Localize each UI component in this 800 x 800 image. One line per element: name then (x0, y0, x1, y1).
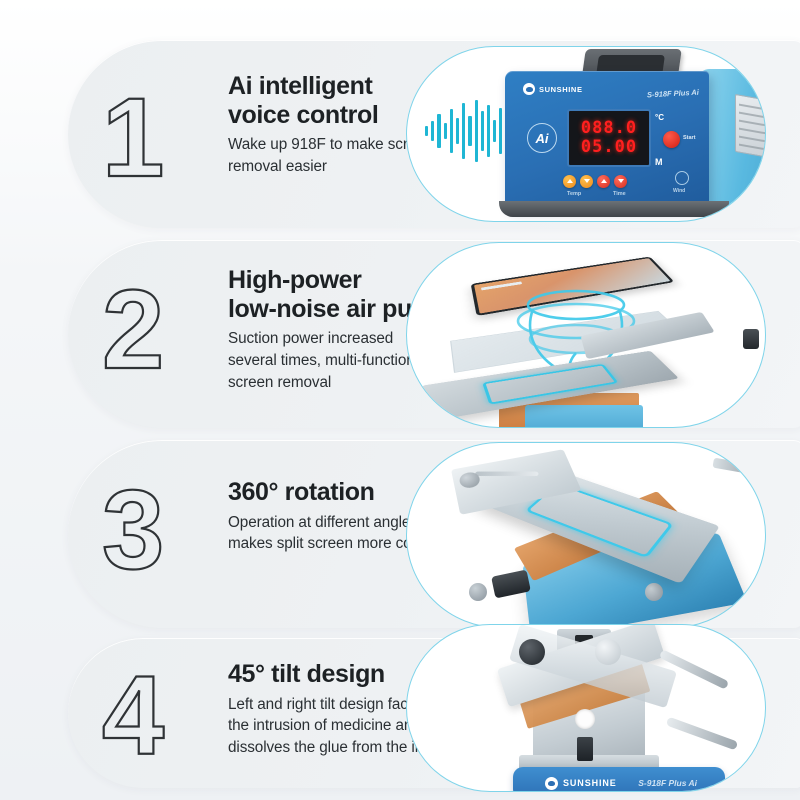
adjust-button-group (563, 175, 627, 188)
machine-front-panel: SUNSHINE S-918F Plus Ai Ai 088.0 05.00 °… (505, 71, 709, 209)
feature-text-1: Ai intelligent voice control Wake up 918… (228, 72, 433, 178)
ai-badge: Ai (527, 123, 557, 153)
adjust-knob-right (645, 583, 663, 601)
side-arm (712, 458, 753, 475)
feature-number-4: 4 (102, 660, 162, 772)
tilt-handle-lower (666, 717, 739, 751)
display-temperature-value: 088.0 (581, 120, 637, 137)
exploded-suction-platform-illustration (407, 243, 765, 427)
time-unit-label: M (655, 157, 663, 167)
feature-image-3 (406, 442, 766, 628)
temp-up-button[interactable] (563, 175, 576, 188)
phone-screen-layer (471, 257, 675, 316)
feature-number-3: 3 (102, 474, 162, 586)
machine-side-panel (699, 69, 766, 211)
feature-title-1: Ai intelligent voice control (228, 72, 433, 129)
feature-card-3: 3 360° rotation Operation at different a… (68, 440, 800, 628)
rotating-work-table-illustration (407, 443, 765, 627)
machine-base (499, 201, 729, 217)
feed-rod (475, 472, 539, 476)
center-slot (577, 737, 593, 761)
spec-label-plate (735, 94, 766, 162)
wind-knob-label: Wind (673, 188, 685, 194)
feature-card-4: 4 45° tilt design Left and right tilt de… (68, 638, 800, 788)
machine-unit: SUNSHINE S-918F Plus Ai Ai 088.0 05.00 °… (499, 63, 766, 222)
feature-image-1: SUNSHINE S-918F Plus Ai Ai 088.0 05.00 °… (406, 46, 766, 222)
adjust-knob-left (469, 583, 487, 601)
sunshine-logo-icon (545, 777, 558, 790)
feature-number-2: 2 (102, 274, 162, 386)
sunshine-logo-icon (523, 83, 535, 95)
feature-card-2: 2 High-power low-noise air pump Suction … (68, 240, 800, 428)
feature-image-4: SUNSHINE S-918F Plus Ai (406, 624, 766, 792)
start-button-label: Start (683, 135, 696, 141)
machine-bottom-bar: SUNSHINE S-918F Plus Ai (513, 767, 725, 792)
temp-down-button[interactable] (580, 175, 593, 188)
wind-knob[interactable] (675, 171, 689, 185)
feature-card-1: 1 Ai intelligent voice control Wake up 9… (68, 40, 800, 228)
start-button[interactable] (663, 131, 680, 148)
bottom-model-text: S-918F Plus Ai (638, 778, 697, 788)
roller-dark (519, 639, 545, 665)
feature-number-1: 1 (102, 82, 162, 194)
roller-light (595, 639, 621, 665)
display-time-value: 05.00 (581, 139, 637, 156)
feature-infographic: 1 Ai intelligent voice control Wake up 9… (0, 0, 800, 800)
time-down-button[interactable] (614, 175, 627, 188)
bottom-brand-name: SUNSHINE (563, 778, 617, 788)
led-display: 088.0 05.00 (567, 109, 651, 167)
center-hole (575, 709, 595, 729)
control-box-voice-wave-illustration: SUNSHINE S-918F Plus Ai Ai 088.0 05.00 °… (407, 47, 765, 221)
machine-model-text: S-918F Plus Ai (647, 88, 699, 100)
machine-blue-base (525, 405, 643, 428)
temp-group-label: Temp (567, 191, 581, 197)
rail-knob (743, 329, 759, 349)
time-group-label: Time (613, 191, 626, 197)
brand-name: SUNSHINE (539, 85, 583, 94)
brand-logo: SUNSHINE (523, 83, 583, 95)
feature-image-2 (406, 242, 766, 428)
time-up-button[interactable] (597, 175, 610, 188)
temperature-unit-label: °C (655, 113, 664, 122)
tilting-fixture-illustration: SUNSHINE S-918F Plus Ai (407, 625, 765, 791)
feature-description-1: Wake up 918F to make screen removal easi… (228, 134, 433, 178)
